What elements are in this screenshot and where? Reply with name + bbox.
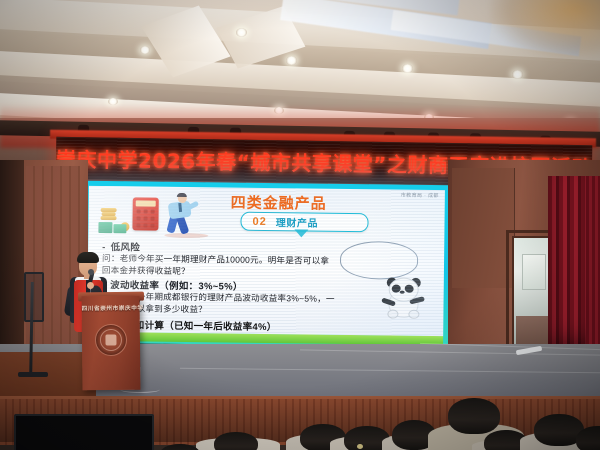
equipment-stand-base: [18, 372, 48, 377]
section-number: 02: [252, 215, 266, 227]
ceiling-downlight: [286, 56, 297, 65]
ceiling-downlight: [402, 64, 413, 73]
left-wall-edge: [0, 160, 24, 360]
chevron-down-icon: [294, 229, 308, 237]
school-crest-emblem: [95, 324, 127, 356]
thought-bubble-icon: [340, 241, 418, 280]
businessman-figure: [158, 193, 199, 237]
auditorium-photo: 崇庆中学2026年春“城市共享课堂”之财商天府进校园活动 市教育局 · 成都: [0, 0, 600, 450]
slide-content: 市教育局 · 成都: [87, 186, 445, 336]
podium: 四川省崇州市崇庆中学: [82, 296, 141, 391]
coin-stack-icon: [101, 216, 117, 220]
microphone-head: [88, 269, 94, 275]
stage-curtain-edge: [586, 176, 600, 356]
calculator-display: [136, 200, 156, 206]
ceiling-corner-glow: [490, 0, 600, 58]
ceiling-downlight: [512, 70, 523, 79]
ceiling-downlight: [236, 28, 247, 37]
podium-label: 四川省崇州市崇庆中学: [82, 304, 140, 313]
panda-mascot: [381, 277, 425, 318]
calculator-icon: [132, 197, 158, 230]
audience-head: [448, 398, 500, 434]
slide-title: 四类金融产品: [231, 192, 327, 214]
equipment-stand-head: [24, 272, 44, 322]
hair-clip: [357, 444, 363, 449]
presenter-hair: [77, 252, 99, 263]
presenter-hand: [87, 282, 94, 289]
ceiling-downlight: [140, 46, 150, 54]
section-label: 理财产品: [276, 214, 319, 230]
summary-line: 本息和计算（已知一年后收益率4%）: [115, 317, 435, 335]
audience-head: [214, 432, 258, 450]
gift-box-icon: [113, 224, 126, 233]
gift-box-icon: [98, 222, 112, 233]
front-display-panel: [14, 414, 154, 450]
slide-top-note: 市教育局 · 成都: [401, 192, 439, 199]
slide-illustration: [98, 192, 203, 237]
bullet-heading: 低风险: [111, 239, 141, 253]
